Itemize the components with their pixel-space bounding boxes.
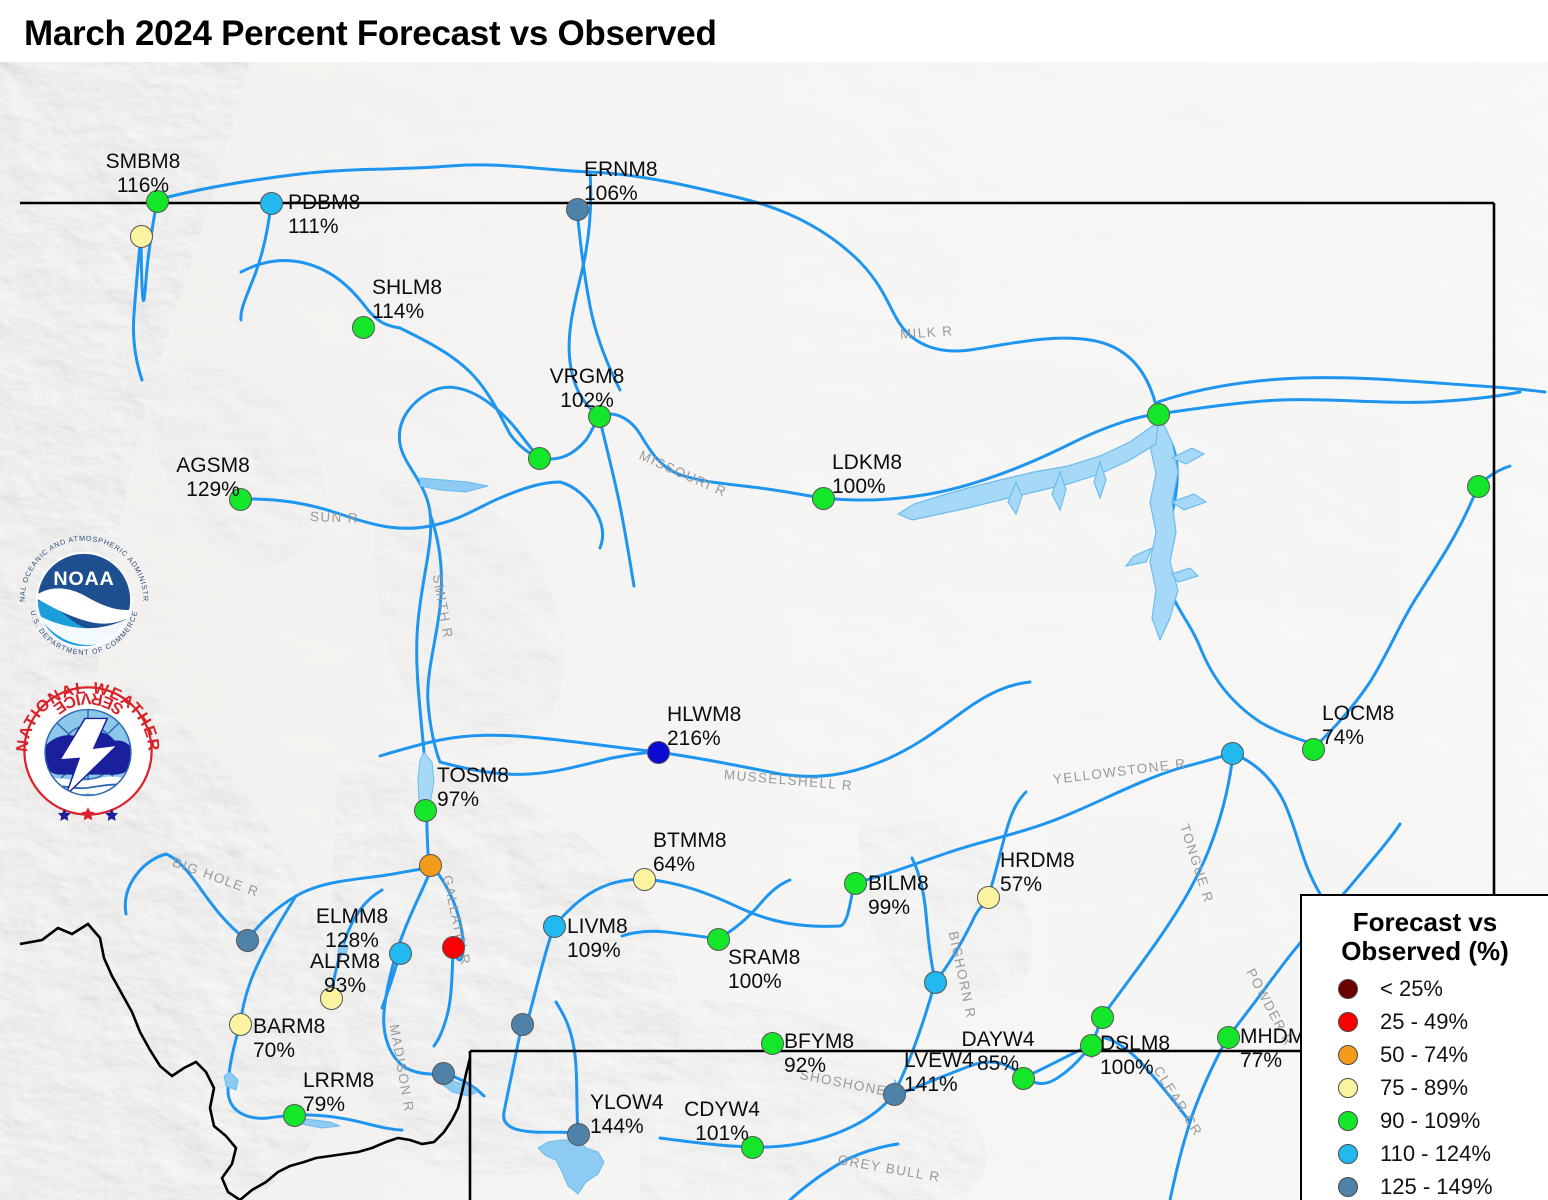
- station-id: BILM8: [868, 872, 929, 896]
- legend-row: 25 - 49%: [1302, 1005, 1548, 1038]
- legend-row: 90 - 109%: [1302, 1104, 1548, 1137]
- station-label: SMBM8116%: [88, 150, 198, 197]
- station-value: 99%: [868, 896, 929, 920]
- station-label: CDYW4101%: [667, 1098, 777, 1145]
- station-label: HRDM857%: [1000, 849, 1075, 896]
- legend-swatch-icon: [1338, 1045, 1358, 1065]
- station-value: 100%: [832, 475, 902, 499]
- station-label: ALRM893%: [290, 950, 400, 997]
- station-dot-icon[interactable]: [567, 1123, 590, 1146]
- station-label: DSLM8100%: [1100, 1032, 1170, 1079]
- station-id: LVEW4: [904, 1049, 974, 1073]
- station-dot-icon[interactable]: [883, 1083, 906, 1106]
- legend-label: 90 - 109%: [1380, 1108, 1480, 1134]
- station-value: 109%: [567, 939, 628, 963]
- noaa-logo: NOAA NATIONAL OCEANIC AND ATMOSPHERIC AD…: [8, 524, 160, 676]
- station-label: LOCM874%: [1322, 702, 1394, 749]
- station-label: BTMM864%: [653, 829, 727, 876]
- station-value: 111%: [288, 215, 360, 239]
- station-id: YLOW4: [590, 1091, 664, 1115]
- station-label: AGSM8129%: [158, 454, 268, 501]
- station-id: BTMM8: [653, 829, 727, 853]
- station-dot-icon[interactable]: [528, 447, 551, 470]
- station-value: 101%: [667, 1122, 777, 1146]
- station-value: 144%: [590, 1115, 664, 1139]
- station-value: 106%: [584, 182, 658, 206]
- station-label: TOSM897%: [437, 764, 509, 811]
- station-value: 102%: [532, 389, 642, 413]
- station-label: HLWM8216%: [667, 703, 741, 750]
- station-id: DAYW4: [943, 1028, 1053, 1052]
- legend-label: 110 - 124%: [1380, 1141, 1491, 1167]
- station-id: SHLM8: [372, 276, 442, 300]
- station-dot-icon[interactable]: [260, 192, 283, 215]
- station-dot-icon[interactable]: [432, 1062, 455, 1085]
- station-label: SRAM8100%: [728, 946, 800, 993]
- station-dot-icon[interactable]: [442, 936, 465, 959]
- legend-swatch-icon: [1338, 1111, 1358, 1131]
- station-id: BFYM8: [784, 1030, 854, 1054]
- svg-text:NOAA: NOAA: [53, 568, 114, 590]
- legend-row: < 25%: [1302, 972, 1548, 1005]
- legend-swatch-icon: [1338, 1177, 1358, 1197]
- station-label: SHLM8114%: [372, 276, 442, 323]
- station-id: LDKM8: [832, 451, 902, 475]
- legend-label: < 25%: [1380, 976, 1443, 1002]
- station-id: LOCM8: [1322, 702, 1394, 726]
- station-label: LVEW4141%: [904, 1049, 974, 1096]
- legend-label: 75 - 89%: [1380, 1075, 1468, 1101]
- station-id: PDBM8: [288, 191, 360, 215]
- station-dot-icon[interactable]: [511, 1013, 534, 1036]
- station-label: ELMM8128%: [297, 905, 407, 952]
- station-dot-icon[interactable]: [924, 971, 947, 994]
- legend-panel: Forecast vs Observed (%) < 25%25 - 49%50…: [1300, 894, 1548, 1200]
- station-id: CDYW4: [667, 1098, 777, 1122]
- station-id: SMBM8: [88, 150, 198, 174]
- station-label: BFYM892%: [784, 1030, 854, 1077]
- station-label: LDKM8100%: [832, 451, 902, 498]
- station-dot-icon[interactable]: [543, 915, 566, 938]
- legend-swatch-icon: [1338, 1012, 1358, 1032]
- map-canvas[interactable]: MILK RSUN RMISSOURI RSMITH RMUSSELSHELL …: [0, 62, 1548, 1200]
- legend-swatch-icon: [1338, 979, 1358, 999]
- station-dot-icon[interactable]: [236, 929, 259, 952]
- station-value: 100%: [1100, 1056, 1170, 1080]
- legend-label: 125 - 149%: [1380, 1174, 1493, 1200]
- station-id: SRAM8: [728, 946, 800, 970]
- station-value: 100%: [728, 970, 800, 994]
- nws-logo: NATIONAL WEATHER SERVICE: [14, 677, 162, 825]
- station-dot-icon[interactable]: [414, 799, 437, 822]
- legend-row: 50 - 74%: [1302, 1038, 1548, 1071]
- legend-title-line2: Observed (%): [1308, 937, 1542, 966]
- station-dot-icon[interactable]: [844, 872, 867, 895]
- station-value: 141%: [904, 1073, 974, 1097]
- legend-row: 125 - 149%: [1302, 1170, 1548, 1200]
- legend-rows: < 25%25 - 49%50 - 74%75 - 89%90 - 109%11…: [1302, 972, 1548, 1200]
- legend-swatch-icon: [1338, 1144, 1358, 1164]
- station-value: 93%: [290, 974, 400, 998]
- station-dot-icon[interactable]: [1221, 742, 1244, 765]
- station-dot-icon[interactable]: [1217, 1026, 1240, 1049]
- station-value: 64%: [653, 853, 727, 877]
- station-value: 79%: [303, 1093, 374, 1117]
- station-value: 74%: [1322, 726, 1394, 750]
- station-id: VRGM8: [532, 365, 642, 389]
- station-label: BARM870%: [253, 1015, 325, 1062]
- station-id: DSLM8: [1100, 1032, 1170, 1056]
- legend-title: Forecast vs Observed (%): [1302, 906, 1548, 972]
- station-dot-icon[interactable]: [1091, 1006, 1114, 1029]
- forecast-map-page: March 2024 Percent Forecast vs Observed: [0, 0, 1548, 1200]
- station-dot-icon[interactable]: [130, 225, 153, 248]
- legend-row: 110 - 124%: [1302, 1137, 1548, 1170]
- legend-title-line1: Forecast vs: [1353, 907, 1498, 937]
- station-value: 97%: [437, 788, 509, 812]
- station-id: LRRM8: [303, 1069, 374, 1093]
- station-dot-icon[interactable]: [977, 886, 1000, 909]
- station-dot-icon[interactable]: [761, 1032, 784, 1055]
- station-value: 116%: [88, 174, 198, 198]
- station-dot-icon[interactable]: [229, 1013, 252, 1036]
- station-dot-icon[interactable]: [1147, 403, 1170, 426]
- legend-row: 75 - 89%: [1302, 1071, 1548, 1104]
- legend-swatch-icon: [1338, 1078, 1358, 1098]
- station-dot-icon[interactable]: [419, 854, 442, 877]
- station-label: LIVM8109%: [567, 915, 628, 962]
- station-label: YLOW4144%: [590, 1091, 664, 1138]
- station-dot-icon[interactable]: [1467, 475, 1490, 498]
- station-id: ERNM8: [584, 158, 658, 182]
- station-value: 70%: [253, 1039, 325, 1063]
- station-value: 57%: [1000, 873, 1075, 897]
- station-dot-icon[interactable]: [707, 928, 730, 951]
- station-id: ELMM8: [297, 905, 407, 929]
- station-id: LIVM8: [567, 915, 628, 939]
- legend-label: 50 - 74%: [1380, 1042, 1468, 1068]
- station-label: BILM899%: [868, 872, 929, 919]
- station-dot-icon[interactable]: [389, 942, 412, 965]
- station-id: AGSM8: [158, 454, 268, 478]
- station-label: VRGM8102%: [532, 365, 642, 412]
- station-id: BARM8: [253, 1015, 325, 1039]
- station-value: 114%: [372, 300, 442, 324]
- legend-label: 25 - 49%: [1380, 1009, 1468, 1035]
- station-id: ALRM8: [290, 950, 400, 974]
- station-label: ERNM8106%: [584, 158, 658, 205]
- station-id: TOSM8: [437, 764, 509, 788]
- station-value: 129%: [158, 478, 268, 502]
- station-value: 216%: [667, 727, 741, 751]
- station-id: HLWM8: [667, 703, 741, 727]
- station-label: LRRM879%: [303, 1069, 374, 1116]
- station-value: 92%: [784, 1054, 854, 1078]
- page-title: March 2024 Percent Forecast vs Observed: [24, 14, 717, 54]
- station-label: PDBM8111%: [288, 191, 360, 238]
- station-id: HRDM8: [1000, 849, 1075, 873]
